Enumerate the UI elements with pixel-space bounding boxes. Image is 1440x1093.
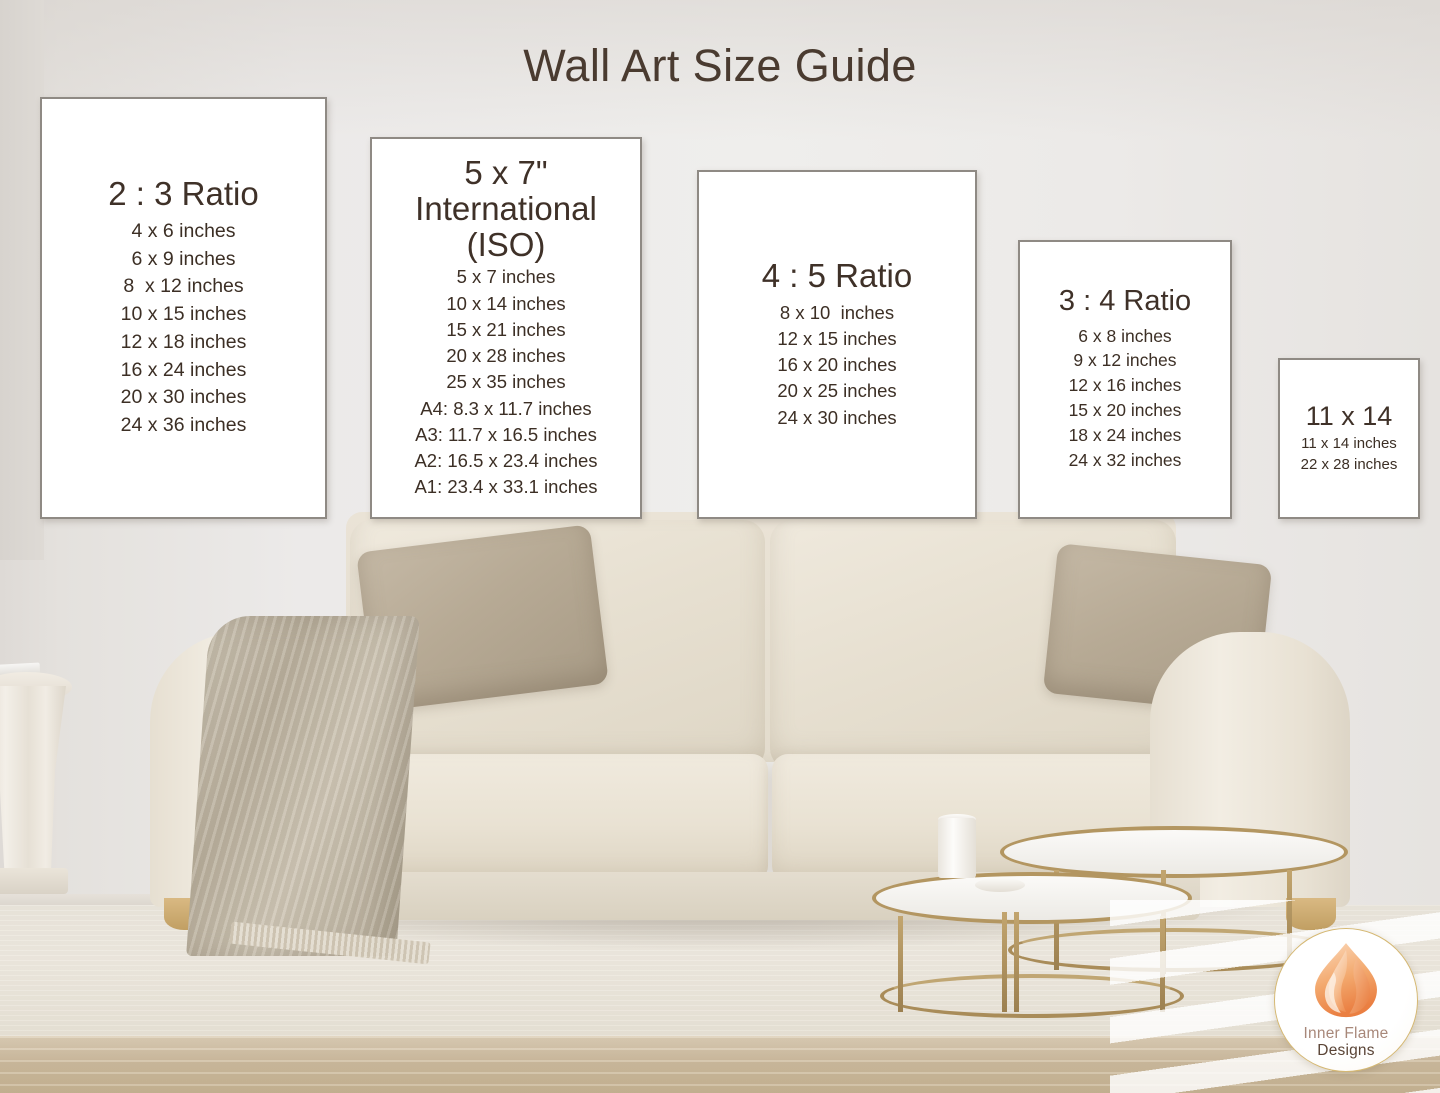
size-entry: 6 x 9 inches: [121, 246, 247, 274]
size-entry: 9 x 12 inches: [1069, 348, 1182, 373]
page-title: Wall Art Size Guide: [0, 40, 1440, 92]
size-entry: 5 x 7 inches: [414, 264, 597, 290]
size-entry: A1: 23.4 x 33.1 inches: [414, 474, 597, 500]
table-post: [898, 916, 903, 1012]
size-entry: 24 x 32 inches: [1069, 448, 1182, 473]
size-entry: 15 x 21 inches: [414, 317, 597, 343]
size-entry: 12 x 18 inches: [121, 329, 247, 357]
dish: [975, 878, 1025, 892]
size-entry: A4: 8.3 x 11.7 inches: [414, 396, 597, 422]
size-entry: 20 x 30 inches: [121, 384, 247, 412]
frame-size-list: 4 x 6 inches6 x 9 inches8 x 12 inches10 …: [121, 218, 247, 440]
frame-size-list: 5 x 7 inches10 x 14 inches15 x 21 inches…: [414, 264, 597, 500]
size-entry: 20 x 25 inches: [777, 378, 896, 404]
size-entry: 8 x 10 inches: [777, 300, 896, 326]
frame-heading: 4 : 5 Ratio: [762, 258, 912, 294]
sofa-seat-cushion: [348, 754, 768, 882]
side-table-base: [0, 868, 68, 894]
size-entry: 24 x 30 inches: [777, 405, 896, 431]
brand-logo[interactable]: Inner Flame Designs: [1274, 928, 1418, 1072]
size-entry: 4 x 6 inches: [121, 218, 247, 246]
throw-blanket: [186, 616, 420, 956]
side-table-body: [0, 686, 66, 886]
size-entry: 11 x 14 inches: [1301, 433, 1398, 454]
table-post: [1002, 912, 1007, 1012]
size-frame-11-x-14[interactable]: 11 x 14 11 x 14 inches22 x 28 inches: [1278, 358, 1420, 519]
frame-heading: 3 : 4 Ratio: [1059, 286, 1191, 317]
frame-size-list: 11 x 14 inches22 x 28 inches: [1301, 433, 1398, 476]
size-entry: 25 x 35 inches: [414, 369, 597, 395]
size-frame-international-iso[interactable]: 5 x 7" International (ISO) 5 x 7 inches1…: [370, 137, 642, 519]
frame-size-list: 8 x 10 inches12 x 15 inches16 x 20 inche…: [777, 300, 896, 431]
frame-heading: 11 x 14: [1306, 402, 1393, 431]
size-entry: 20 x 28 inches: [414, 343, 597, 369]
wood-floor-strip: [0, 1036, 1440, 1093]
size-entry: 16 x 24 inches: [121, 357, 247, 385]
frame-heading: 2 : 3 Ratio: [108, 176, 258, 212]
size-entry: 15 x 20 inches: [1069, 398, 1182, 423]
size-entry: 10 x 14 inches: [414, 291, 597, 317]
size-frame-2-3-ratio[interactable]: 2 : 3 Ratio 4 x 6 inches6 x 9 inches8 x …: [40, 97, 327, 519]
flame-icon: [1303, 938, 1389, 1024]
table-post: [1014, 912, 1019, 1012]
size-entry: A3: 11.7 x 16.5 inches: [414, 422, 597, 448]
size-entry: 12 x 16 inches: [1069, 373, 1182, 398]
logo-text-secondary: Designs: [1317, 1042, 1374, 1060]
side-table: [0, 672, 72, 922]
size-entry: 8 x 12 inches: [121, 273, 247, 301]
table-frame: [880, 898, 1184, 1018]
nesting-coffee-table-small: [872, 872, 1192, 1032]
size-entry: 6 x 8 inches: [1069, 324, 1182, 349]
size-entry: 16 x 20 inches: [777, 352, 896, 378]
table-base-ring: [880, 974, 1184, 1018]
frame-heading: 5 x 7" International (ISO): [415, 155, 597, 262]
frame-size-list: 6 x 8 inches9 x 12 inches12 x 16 inches1…: [1069, 324, 1182, 473]
size-entry: 10 x 15 inches: [121, 301, 247, 329]
size-entry: A2: 16.5 x 23.4 inches: [414, 448, 597, 474]
size-entry: 12 x 15 inches: [777, 326, 896, 352]
size-entry: 18 x 24 inches: [1069, 423, 1182, 448]
size-frame-3-4-ratio[interactable]: 3 : 4 Ratio 6 x 8 inches9 x 12 inches12 …: [1018, 240, 1232, 519]
size-frame-4-5-ratio[interactable]: 4 : 5 Ratio 8 x 10 inches12 x 15 inches1…: [697, 170, 977, 519]
size-entry: 22 x 28 inches: [1301, 454, 1398, 475]
size-entry: 24 x 36 inches: [121, 412, 247, 440]
vase: [938, 818, 976, 878]
table-post: [1160, 916, 1165, 1012]
logo-text-primary: Inner Flame: [1304, 1025, 1389, 1043]
